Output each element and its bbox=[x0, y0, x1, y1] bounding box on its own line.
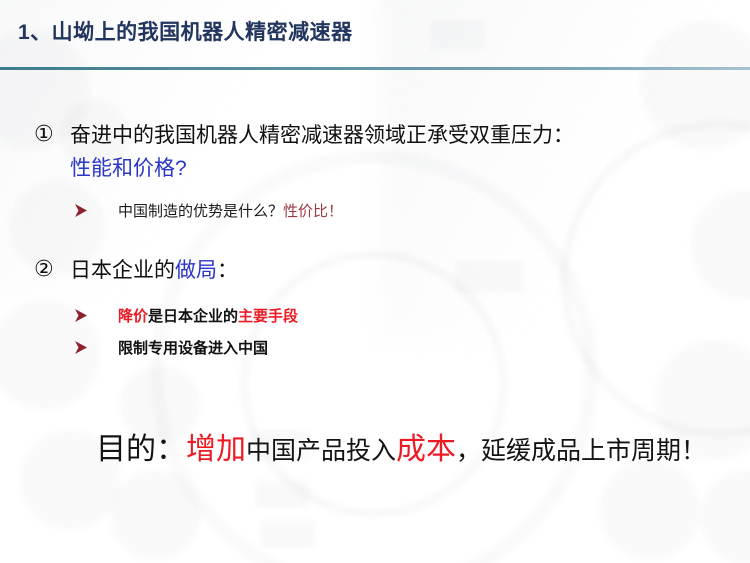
sub-2-1-red-1: 降价 bbox=[118, 308, 148, 325]
item-2-seg-blue: 做局 bbox=[175, 259, 217, 282]
conclusion-line: 目的：增加中国产品投入成本，延缓成品上市周期！ bbox=[96, 424, 706, 468]
sub-bullet-2-2: 限制专用设备进入中国 bbox=[74, 337, 268, 358]
item-2-seg-black: 日本企业的 bbox=[70, 259, 175, 282]
list-marker-1: ① bbox=[34, 120, 70, 148]
list-item-2-body: 日本企业的做局： bbox=[70, 255, 238, 288]
sub-bullet-1-1-text: 中国制造的优势是什么？性价比！ bbox=[118, 200, 343, 221]
list-item-1: ① 奋进中的我国机器人精密减速器领域正承受双重压力： 性能和价格? bbox=[34, 120, 574, 185]
sub-bullet-2-1: 降价是日本企业的主要手段 bbox=[74, 305, 298, 326]
item-2-seg-tail: ： bbox=[217, 259, 238, 282]
arrow-bullet-icon bbox=[74, 204, 118, 217]
sub-2-1-black: 是日本企业的 bbox=[148, 308, 238, 325]
sub-bullet-2-2-text: 限制专用设备进入中国 bbox=[118, 337, 268, 358]
item-1-line-1: 奋进中的我国机器人精密减速器领域正承受双重压力： bbox=[70, 120, 574, 153]
title-divider bbox=[0, 67, 750, 70]
slide-canvas: 1、山坳上的我国机器人精密减速器 ① 奋进中的我国机器人精密减速器领域正承受双重… bbox=[0, 0, 750, 563]
item-2-line-1: 日本企业的做局： bbox=[70, 255, 238, 288]
sub-2-1-red-2: 主要手段 bbox=[238, 308, 298, 325]
conclusion-emphasis-2: 成本 bbox=[396, 433, 456, 466]
conclusion-tail: ，延缓成品上市周期！ bbox=[456, 437, 706, 465]
list-marker-2: ② bbox=[34, 255, 70, 283]
sub-bullet-1-1: 中国制造的优势是什么？性价比！ bbox=[74, 200, 343, 221]
list-item-2: ② 日本企业的做局： bbox=[34, 255, 238, 288]
conclusion-emphasis-1: 增加 bbox=[186, 433, 246, 466]
sub-1-1-black: 中国制造的优势是什么？ bbox=[118, 204, 283, 220]
arrow-bullet-icon bbox=[74, 309, 118, 322]
sub-1-1-tail: ！ bbox=[328, 204, 343, 220]
arrow-bullet-icon bbox=[74, 341, 118, 354]
list-item-1-body: 奋进中的我国机器人精密减速器领域正承受双重压力： 性能和价格? bbox=[70, 120, 574, 185]
sub-bullet-2-1-text: 降价是日本企业的主要手段 bbox=[118, 305, 298, 326]
conclusion-label: 目的： bbox=[96, 433, 186, 466]
page-title: 1、山坳上的我国机器人精密减速器 bbox=[18, 16, 353, 46]
sub-1-1-accent: 性价比 bbox=[283, 204, 328, 220]
conclusion-mid: 中国产品投入 bbox=[246, 437, 396, 465]
item-1-line-2: 性能和价格? bbox=[70, 153, 574, 186]
